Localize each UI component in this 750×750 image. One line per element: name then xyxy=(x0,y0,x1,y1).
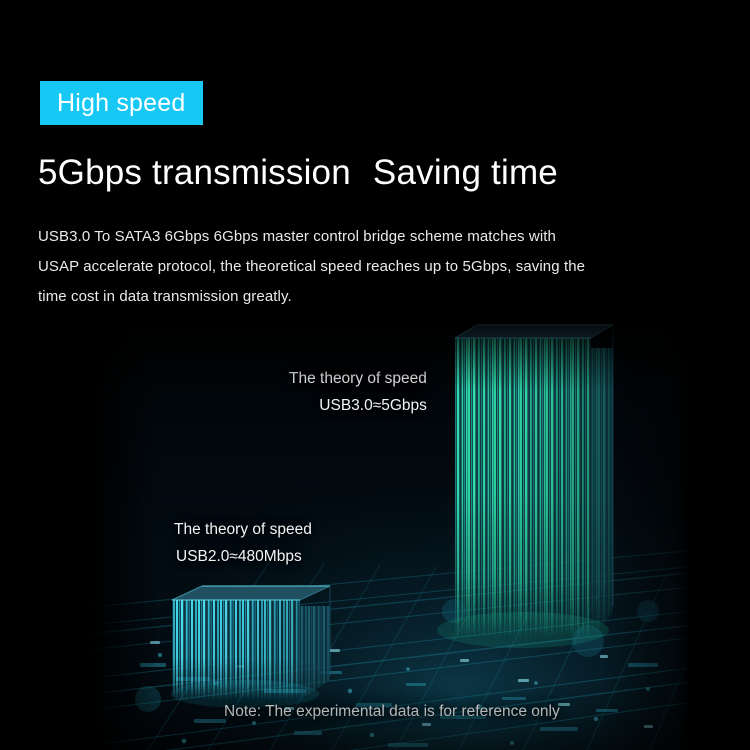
usb3-annotation-line2: USB3.0≈5Gbps xyxy=(289,392,427,419)
usb3-annotation-line1: The theory of speed xyxy=(289,370,427,387)
usb3-annotation: The theory of speed USB3.0≈5Gbps xyxy=(289,365,427,419)
product-feature-page: High speed 5Gbps transmissionSaving time… xyxy=(0,0,750,750)
usb2-annotation: The theory of speed USB2.0≈480Mbps xyxy=(174,516,312,570)
headline-right: Saving time xyxy=(373,153,558,192)
headline-left: 5Gbps transmission xyxy=(38,153,351,192)
usb2-annotation-line2: USB2.0≈480Mbps xyxy=(174,543,312,570)
description-paragraph: USB3.0 To SATA3 6Gbps 6Gbps master contr… xyxy=(38,222,598,312)
chart-footnote: Note: The experimental data is for refer… xyxy=(224,703,560,721)
high-speed-badge: High speed xyxy=(40,81,203,125)
usb2-annotation-line1: The theory of speed xyxy=(174,521,312,538)
page-title: 5Gbps transmissionSaving time xyxy=(38,153,558,193)
